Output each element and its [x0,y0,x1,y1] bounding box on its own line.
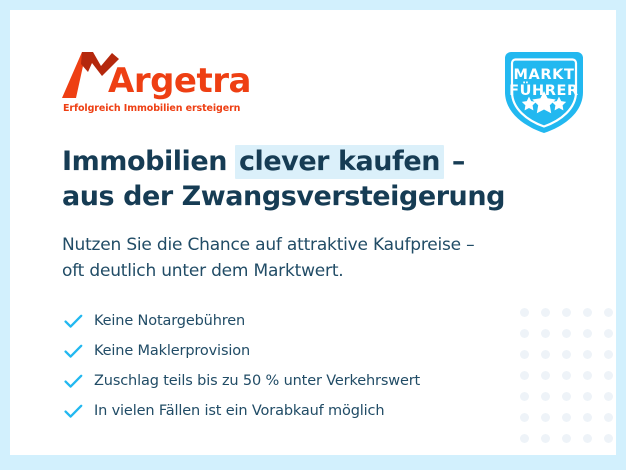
pattern-dot [541,434,550,443]
list-item-label: Zuschlag teils bis zu 50 % unter Verkehr… [94,373,420,389]
pattern-dot [583,350,592,359]
logo-tagline: Erfolgreich Immobilien ersteigern [63,103,240,114]
subtitle-line-2: oft deutlich unter dem Marktwert. [62,261,344,281]
pattern-dot [604,329,613,338]
list-item: Zuschlag teils bis zu 50 % unter Verkehr… [64,366,534,396]
pattern-dot [604,413,613,422]
page-title: Immobilien clever kaufen – aus der Zwang… [62,144,582,214]
check-icon [64,344,94,359]
pattern-dot [541,371,550,380]
logo-wordmark: Argetra [108,64,251,98]
headline-highlight: clever kaufen [235,145,444,179]
pattern-dot [541,392,550,401]
pattern-dot [562,371,571,380]
subtitle-line-1: Nutzen Sie die Chance auf attraktive Kau… [62,235,474,255]
list-item-label: In vielen Fällen ist ein Vorabkauf mögli… [94,403,384,419]
pattern-dot [583,413,592,422]
pattern-dot [541,329,550,338]
argetra-logo[interactable]: Argetra Erfolgreich Immobilien ersteiger… [62,50,262,118]
check-icon [64,374,94,389]
headline-part-1: Immobilien [62,146,236,177]
pattern-dot [541,350,550,359]
badge-line-2: FÜHRER [499,83,589,99]
badge-line-1: MARKT [499,67,589,83]
check-icon [64,404,94,419]
headline-part-2: – [443,146,465,177]
page-subtitle: Nutzen Sie die Chance auf attraktive Kau… [62,232,562,285]
pattern-dot [583,392,592,401]
list-item: In vielen Fällen ist ein Vorabkauf mögli… [64,396,534,426]
pattern-dot [604,392,613,401]
pattern-dot [562,392,571,401]
status-badge: MARKT FÜHRER [499,48,589,136]
pattern-dot [520,434,529,443]
advertisement-banner: Argetra Erfolgreich Immobilien ersteiger… [0,0,626,470]
list-item: Keine Notargebühren [64,306,534,336]
pattern-dot [583,371,592,380]
list-item-label: Keine Notargebühren [94,313,245,329]
headline-line-2: aus der Zwangsversteigerung [62,181,505,212]
pattern-dot [583,308,592,317]
pattern-dot [562,329,571,338]
benefits-list: Keine Notargebühren Keine Maklerprovisio… [64,306,534,426]
pattern-dot [562,308,571,317]
pattern-dot [562,413,571,422]
pattern-dot [604,371,613,380]
banner-card: Argetra Erfolgreich Immobilien ersteiger… [10,10,616,455]
check-icon [64,314,94,329]
list-item-label: Keine Maklerprovision [94,343,250,359]
pattern-dot [604,434,613,443]
pattern-dot [541,308,550,317]
pattern-dot [583,329,592,338]
pattern-dot [583,434,592,443]
list-item: Keine Maklerprovision [64,336,534,366]
pattern-dot [604,350,613,359]
pattern-dot [562,434,571,443]
pattern-dot [604,308,613,317]
pattern-dot [541,413,550,422]
pattern-dot [562,350,571,359]
dot-grid-pattern-icon [520,308,616,455]
